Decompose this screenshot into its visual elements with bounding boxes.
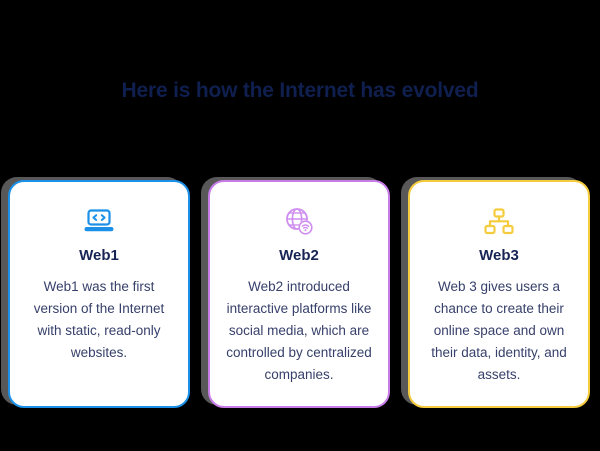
slide-canvas: Here is how the Internet has evolved Web…	[0, 0, 600, 451]
laptop-code-icon	[83, 204, 115, 238]
page-title: Here is how the Internet has evolved	[0, 78, 600, 104]
card-heading: Web2	[279, 246, 319, 266]
card-web1[interactable]: Web1 Web1 was the first version of the I…	[8, 180, 190, 408]
card-heading: Web1	[79, 246, 119, 266]
card-web3[interactable]: Web3 Web 3 gives users a chance to creat…	[408, 180, 590, 408]
cards-row: Web1 Web1 was the first version of the I…	[8, 180, 592, 408]
card-web2[interactable]: Web2 Web2 introduced interactive platfor…	[208, 180, 390, 408]
card-body-text: Web2 introduced interactive platforms li…	[222, 276, 376, 386]
globe-wifi-icon	[284, 204, 314, 238]
network-hierarchy-icon	[484, 204, 514, 238]
card-body-text: Web 3 gives users a chance to create the…	[422, 276, 576, 386]
card-heading: Web3	[479, 246, 519, 266]
card-body-text: Web1 was the first version of the Intern…	[22, 276, 176, 364]
